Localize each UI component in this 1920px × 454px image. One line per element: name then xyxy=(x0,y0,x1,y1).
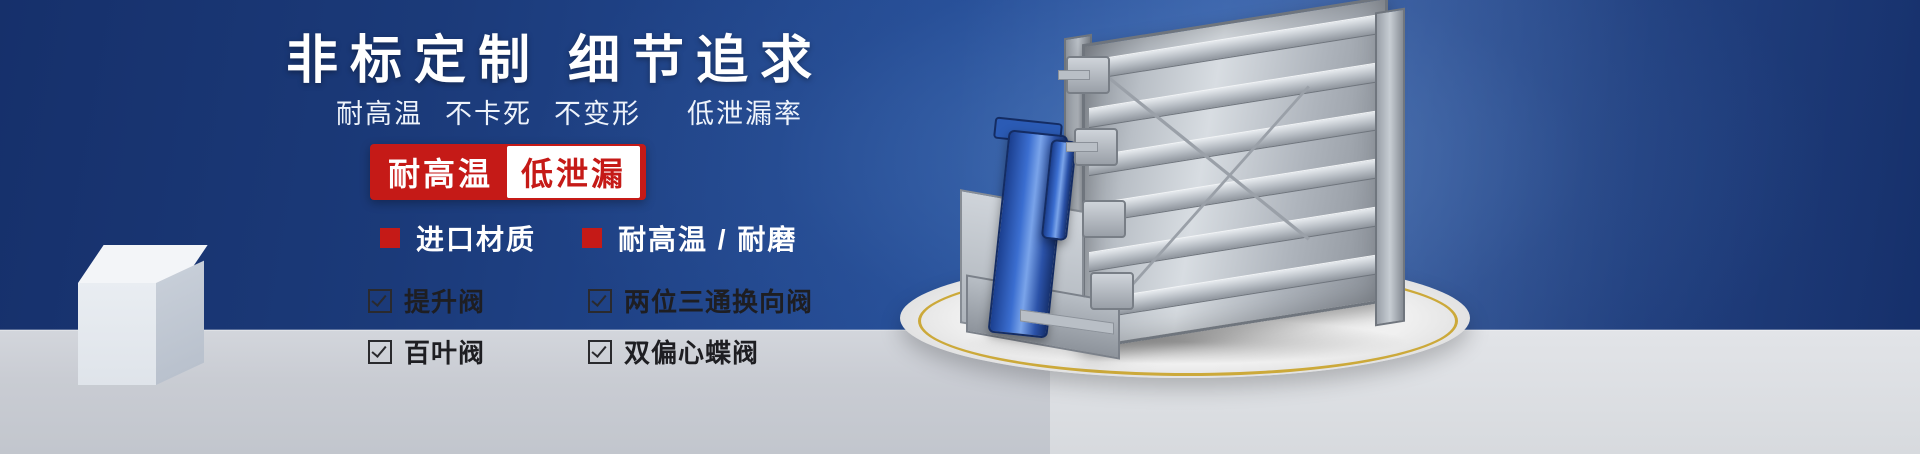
subheadline-item-2: 不卡死 xyxy=(445,99,532,129)
cube-side-face xyxy=(156,261,204,385)
feature-badge-left-text: 耐高温 xyxy=(376,149,507,195)
headline: 非标定制细节追求 xyxy=(286,18,906,93)
feature-bullet-list: 进口材质 耐高温 / 耐磨 xyxy=(380,218,797,258)
checkbox-checked-icon xyxy=(588,340,612,364)
checklist-label-3: 百叶阀 xyxy=(404,333,485,370)
subheadline: 耐高温不卡死不变形低泄漏率 xyxy=(336,92,803,131)
damper-pivot-bearing xyxy=(1082,200,1126,238)
checklist-item-2: 两位三通换向阀 xyxy=(588,282,813,319)
feature-badge: 耐高温 低泄漏 xyxy=(370,144,646,200)
product-checklist: 提升阀 两位三通换向阀 百叶阀 双偏心蝶阀 xyxy=(368,282,813,370)
checklist-label-2: 两位三通换向阀 xyxy=(624,282,813,319)
subheadline-item-1: 耐高温 xyxy=(336,99,423,129)
headline-part1: 非标定制 xyxy=(286,32,542,90)
linkage-rod xyxy=(1058,70,1090,80)
red-square-icon xyxy=(380,228,400,248)
checklist-label-1: 提升阀 xyxy=(404,282,485,319)
checklist-item-3: 百叶阀 xyxy=(368,333,568,370)
checkbox-checked-icon xyxy=(368,289,392,313)
checkbox-checked-icon xyxy=(368,340,392,364)
checkbox-checked-icon xyxy=(588,289,612,313)
linkage-rod xyxy=(1066,142,1098,152)
feature-badge-right-text: 低泄漏 xyxy=(507,146,640,198)
subheadline-item-3: 不变形 xyxy=(554,99,641,129)
damper-frame-right xyxy=(1375,8,1405,327)
checklist-label-4: 双偏心蝶阀 xyxy=(624,333,759,370)
cube-front-face xyxy=(78,283,156,385)
decorative-cube xyxy=(78,245,208,395)
subheadline-item-4: 低泄漏率 xyxy=(687,99,803,129)
headline-part2: 细节追求 xyxy=(568,32,824,90)
red-square-icon xyxy=(582,228,602,248)
promo-banner: 非标定制细节追求 耐高温不卡死不变形低泄漏率 耐高温 低泄漏 进口材质 耐高温 … xyxy=(0,0,1920,454)
feature-bullet-label-1: 进口材质 xyxy=(416,218,536,258)
feature-bullet-label-2: 耐高温 / 耐磨 xyxy=(618,218,797,258)
checklist-item-1: 提升阀 xyxy=(368,282,568,319)
damper-pivot-bearing xyxy=(1090,272,1134,310)
checklist-item-4: 双偏心蝶阀 xyxy=(588,333,813,370)
